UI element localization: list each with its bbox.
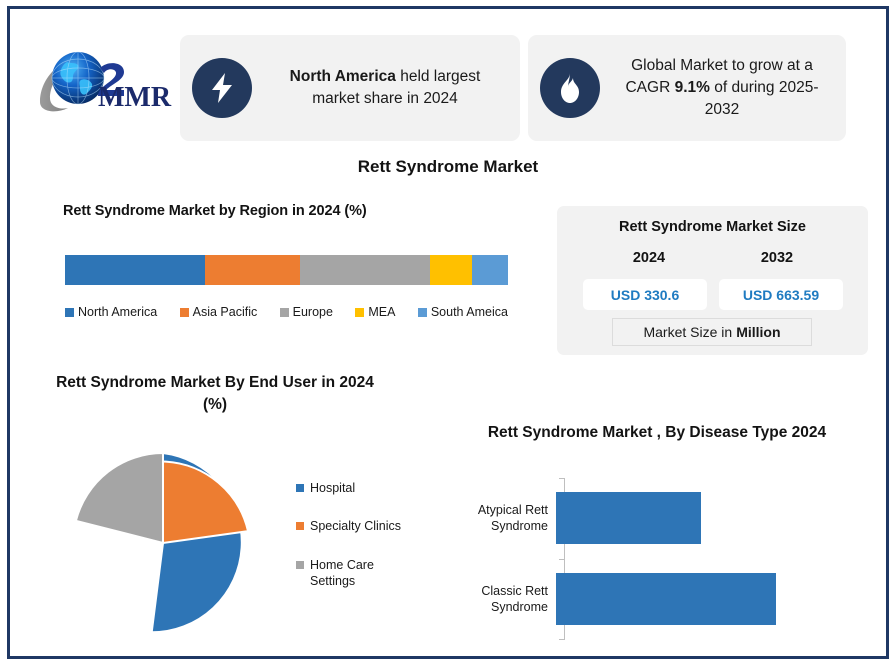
header-card-cagr: Global Market to grow at a CAGR 9.1% of … [528,35,846,141]
market-size-value-2032: USD 663.59 [719,279,843,310]
disease-type-row-classic: Classic Rett Syndrome [452,573,872,625]
pie-chart-legend: Hospital Specialty Clinics Home Care Set… [296,480,406,589]
axis-tick-middle [559,559,564,560]
pie-legend-item-hospital: Hospital [296,480,406,496]
legend-label-north-america: North America [78,305,157,319]
market-size-values: USD 330.6 USD 663.59 [583,279,843,310]
pie-legend-label-home-care-settings: Home Care Settings [310,557,406,590]
pie-legend-label-hospital: Hospital [310,480,355,496]
legend-item-asia-pacific: Asia Pacific [180,305,258,319]
header-card-two-bold: 9.1% [675,79,710,96]
pie-legend-swatch-specialty-clinics [296,522,304,530]
region-stacked-bar [65,255,508,285]
legend-item-south-america: South Ameica [418,305,508,319]
lightning-bolt-icon [192,58,252,118]
mmr-logo-icon: MMR [34,44,174,120]
disease-type-bar-chart: Atypical Rett Syndrome Classic Rett Synd… [452,478,872,650]
end-user-pie-chart [72,452,254,634]
region-chart-title: Rett Syndrome Market by Region in 2024 (… [63,203,367,219]
legend-swatch-south-america [418,308,427,317]
disease-type-row-atypical: Atypical Rett Syndrome [452,492,872,544]
market-size-title: Rett Syndrome Market Size [557,219,868,235]
market-size-year-2024: 2024 [585,250,713,266]
disease-type-bar-classic [556,573,776,625]
header-card-one-bold: North America [290,68,396,85]
pie-legend-item-home-care-settings: Home Care Settings [296,557,406,590]
page-title: Rett Syndrome Market [0,157,896,177]
market-size-unit-pre: Market Size in [643,324,732,340]
pie-legend-item-specialty-clinics: Specialty Clinics [296,518,406,534]
market-size-panel: Rett Syndrome Market Size 2024 2032 USD … [557,206,868,355]
market-size-unit-bold: Million [736,324,780,340]
flame-icon [540,58,600,118]
mmr-logo-text: MMR [98,82,172,113]
pie-legend-swatch-hospital [296,484,304,492]
market-size-value-2024: USD 330.6 [583,279,707,310]
region-segment-europe [300,255,430,285]
legend-item-north-america: North America [65,305,157,319]
disease-type-label-classic: Classic Rett Syndrome [452,583,556,616]
legend-swatch-europe [280,308,289,317]
region-segment-north-america [65,255,205,285]
market-size-year-2032: 2032 [713,250,841,266]
header-card-one-text: North America held largest market share … [264,66,506,110]
legend-swatch-mea [355,308,364,317]
header-card-north-america: North America held largest market share … [180,35,520,141]
header-card-two-text: Global Market to grow at a CAGR 9.1% of … [612,55,832,121]
legend-label-asia-pacific: Asia Pacific [193,305,258,319]
disease-type-chart-title: Rett Syndrome Market , By Disease Type 2… [452,422,862,444]
mmr-logo: MMR [34,44,174,120]
legend-label-south-america: South Ameica [431,305,508,319]
disease-type-label-atypical: Atypical Rett Syndrome [452,502,556,535]
legend-swatch-north-america [65,308,74,317]
region-segment-south-america [472,255,508,285]
legend-item-mea: MEA [355,305,395,319]
axis-tick-bottom [559,639,564,640]
axis-tick-top [559,478,564,479]
legend-label-europe: Europe [293,305,333,319]
market-size-unit: Market Size inMillion [612,318,812,346]
pie-slice-home-care-settings [76,453,163,543]
legend-label-mea: MEA [368,305,395,319]
legend-item-europe: Europe [280,305,333,319]
region-segment-mea [430,255,472,285]
disease-type-bar-atypical [556,492,701,544]
region-chart-legend: North America Asia Pacific Europe MEA So… [65,305,508,319]
legend-swatch-asia-pacific [180,308,189,317]
infographic-canvas: MMR North America held largest market sh… [0,0,896,666]
pie-chart-title: Rett Syndrome Market By End User in 2024… [55,372,375,417]
market-size-years: 2024 2032 [585,250,841,266]
header-card-two-post: of during 2025-2032 [705,79,819,118]
pie-legend-label-specialty-clinics: Specialty Clinics [310,518,401,534]
region-segment-asia-pacific [205,255,300,285]
pie-legend-swatch-home-care-settings [296,561,304,569]
